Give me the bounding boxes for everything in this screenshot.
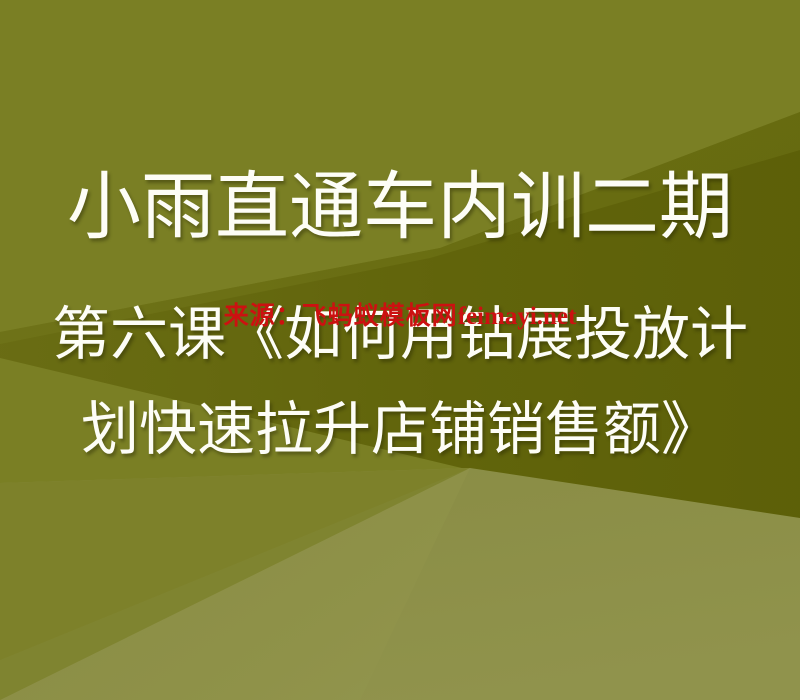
background-geometric-shapes (0, 0, 800, 700)
presentation-slide: 小雨直通车内训二期 第六课《如何用钻展投放计 划快速拉升店铺销售额》 来源：飞蚂… (0, 0, 800, 700)
